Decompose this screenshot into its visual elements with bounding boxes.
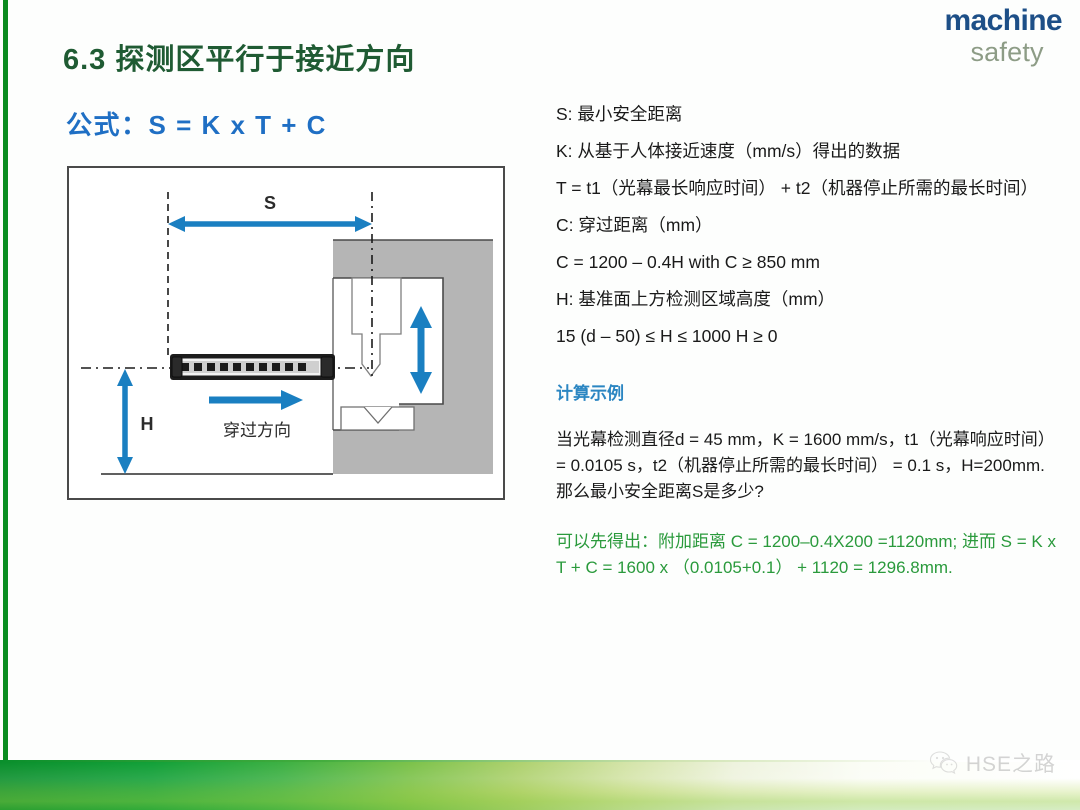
left-green-stripe	[3, 0, 8, 762]
watermark-text: HSE之路	[966, 748, 1056, 778]
label-approach-direction: 穿过方向	[223, 421, 291, 440]
example-solution: 可以先得出：附加距离 C = 1200–0.4X200 =1120mm; 进而 …	[556, 529, 1066, 581]
definition-line: 15 (d – 50) ≤ H ≤ 1000 H ≥ 0	[556, 318, 1066, 355]
formula-heading: 公式：S = K x T + C	[66, 105, 327, 142]
definition-line: S: 最小安全距离	[556, 96, 1066, 133]
example-heading: 计算示例	[556, 381, 1066, 407]
light-curtain-device	[170, 354, 335, 380]
definition-line: K: 从基于人体接近速度（mm/s）得出的数据	[556, 133, 1066, 170]
example-body: 当光幕检测直径d = 45 mm，K = 1600 mm/s，t1（光幕响应时间…	[556, 427, 1066, 505]
wechat-icon	[929, 750, 959, 776]
slide-canvas: machine safety 6.3 探测区平行于接近方向 公式：S = K x…	[0, 0, 1080, 810]
label-h: H	[141, 414, 154, 434]
definition-line: C = 1200 – 0.4H with C ≥ 850 mm	[556, 244, 1066, 281]
definitions-panel: S: 最小安全距离 K: 从基于人体接近速度（mm/s）得出的数据 T = t1…	[556, 96, 1066, 581]
bottom-green-band	[0, 762, 1080, 810]
tool-stroke-arrow	[410, 306, 432, 394]
definition-line: H: 基准面上方检测区域高度（mm）	[556, 281, 1066, 318]
label-s: S	[264, 193, 276, 213]
definition-line: C: 穿过距离（mm）	[556, 207, 1066, 244]
definition-line: T = t1（光幕最长响应时间） + t2（机器停止所需的最长时间）	[556, 170, 1066, 207]
brand-logo: machine safety	[944, 6, 1062, 66]
dimension-arrow-h	[117, 369, 133, 474]
example-given: 当光幕检测直径d = 45 mm，K = 1600 mm/s，t1（光幕响应时间…	[556, 430, 1055, 475]
diagram-figure: S H	[67, 166, 505, 500]
logo-line-machine: machine	[944, 6, 1062, 36]
diagram-svg: S H	[69, 168, 507, 502]
punch-tool	[352, 278, 401, 376]
approach-direction-arrow	[209, 390, 303, 410]
page-title: 6.3 探测区平行于接近方向	[63, 36, 415, 78]
example-question: 那么最小安全距离S是多少?	[556, 479, 1066, 505]
watermark: HSE之路	[929, 748, 1056, 778]
press-body-shape	[333, 240, 493, 474]
dimension-arrow-s	[168, 216, 372, 232]
logo-line-safety: safety	[970, 39, 1062, 66]
